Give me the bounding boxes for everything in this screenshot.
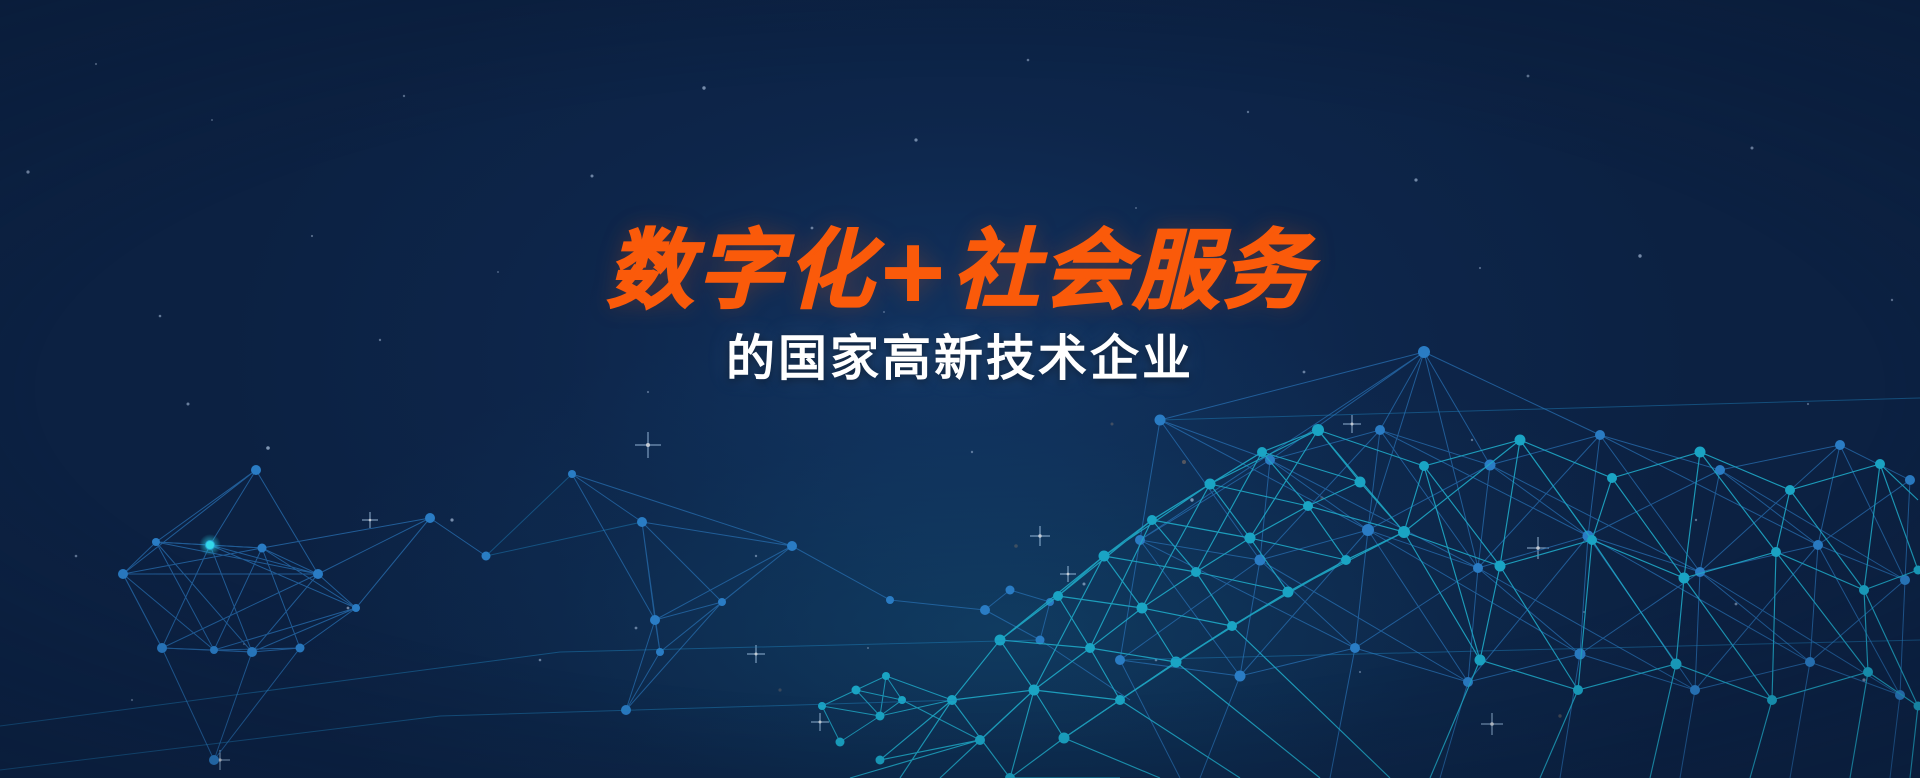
- dust-particles: [778, 423, 1561, 718]
- network-center-left-cluster: [572, 474, 1130, 710]
- hero-text-block: 数字化+社会服务 的国家高新技术企业: [0, 228, 1920, 386]
- network-right-nodes: [1115, 346, 1915, 700]
- page-subtitle: 的国家高新技术企业: [0, 332, 1920, 386]
- hero-banner: 数字化+社会服务 的国家高新技术企业: [0, 0, 1920, 778]
- page-title: 数字化+社会服务: [0, 228, 1920, 316]
- network-sweep-lines: [0, 398, 1920, 770]
- network-foreground-teal-nodes: [876, 424, 1920, 778]
- network-satellite-node-dots: [818, 672, 906, 747]
- network-center-left-nodes: [568, 470, 1054, 715]
- network-left-highlight-node: [199, 534, 221, 556]
- polygon-network-graphic: [0, 0, 1920, 778]
- network-right-mesh: [1120, 352, 1910, 778]
- network-foreground-teal-mesh: [850, 430, 1918, 778]
- network-satellite-nodes: [822, 676, 980, 742]
- network-left-nodes: [118, 465, 491, 765]
